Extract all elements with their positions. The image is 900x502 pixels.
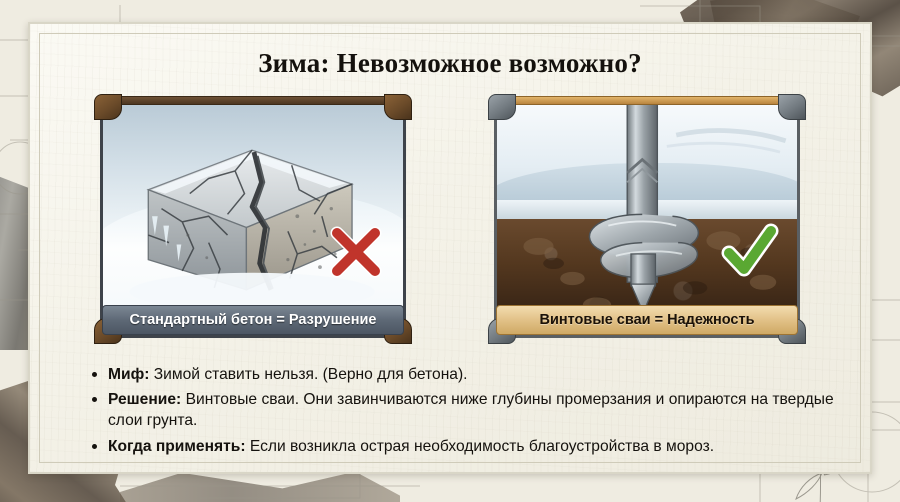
- bullet-item-when-to-use: Когда применять: Если возникла острая не…: [88, 436, 834, 457]
- comparison-cards: Стандартный бетон = Разрушение: [30, 94, 870, 344]
- corner-bracket-top-right: [778, 94, 806, 120]
- green-check-icon: [719, 221, 781, 283]
- bullet-item-myth: Миф: Зимой ставить нельзя. (Верно для бе…: [88, 364, 834, 385]
- bullet-dot-icon: [92, 397, 97, 402]
- corner-bracket-top-left: [488, 94, 516, 120]
- corner-bracket-top-left: [94, 94, 122, 120]
- bullet-dot-icon: [92, 372, 97, 377]
- card-screw-pile-top-rail: [498, 96, 796, 105]
- slide-canvas: Зима: Невозможное возможно?: [0, 0, 900, 502]
- card-concrete-caption: Стандартный бетон = Разрушение: [102, 305, 404, 335]
- red-cross-icon: [325, 221, 387, 283]
- bullet-label: Миф:: [108, 366, 149, 383]
- bullet-text: Винтовые сваи. Они завинчиваются ниже гл…: [108, 391, 834, 429]
- content-panel: Зима: Невозможное возможно?: [28, 22, 872, 474]
- bullet-dot-icon: [92, 444, 97, 449]
- bullet-label: Решение:: [108, 391, 181, 408]
- card-concrete-top-rail: [104, 96, 402, 105]
- card-screw-pile-image: [494, 100, 800, 338]
- card-concrete[interactable]: Стандартный бетон = Разрушение: [94, 94, 412, 344]
- bullet-text: Если возникла острая необходимость благо…: [250, 438, 714, 455]
- card-screw-pile[interactable]: Винтовые сваи = Надежность: [488, 94, 806, 344]
- bullet-list: Миф: Зимой ставить нельзя. (Верно для бе…: [88, 364, 834, 461]
- bullet-label: Когда применять:: [108, 438, 246, 455]
- page-title: Зима: Невозможное возможно?: [30, 48, 870, 79]
- bullet-item-solution: Решение: Винтовые сваи. Они завинчиваютс…: [88, 389, 834, 431]
- bullet-text: Зимой ставить нельзя. (Верно для бетона)…: [154, 366, 468, 383]
- corner-bracket-top-right: [384, 94, 412, 120]
- card-screw-pile-caption: Винтовые сваи = Надежность: [496, 305, 798, 335]
- card-concrete-image: [100, 100, 406, 338]
